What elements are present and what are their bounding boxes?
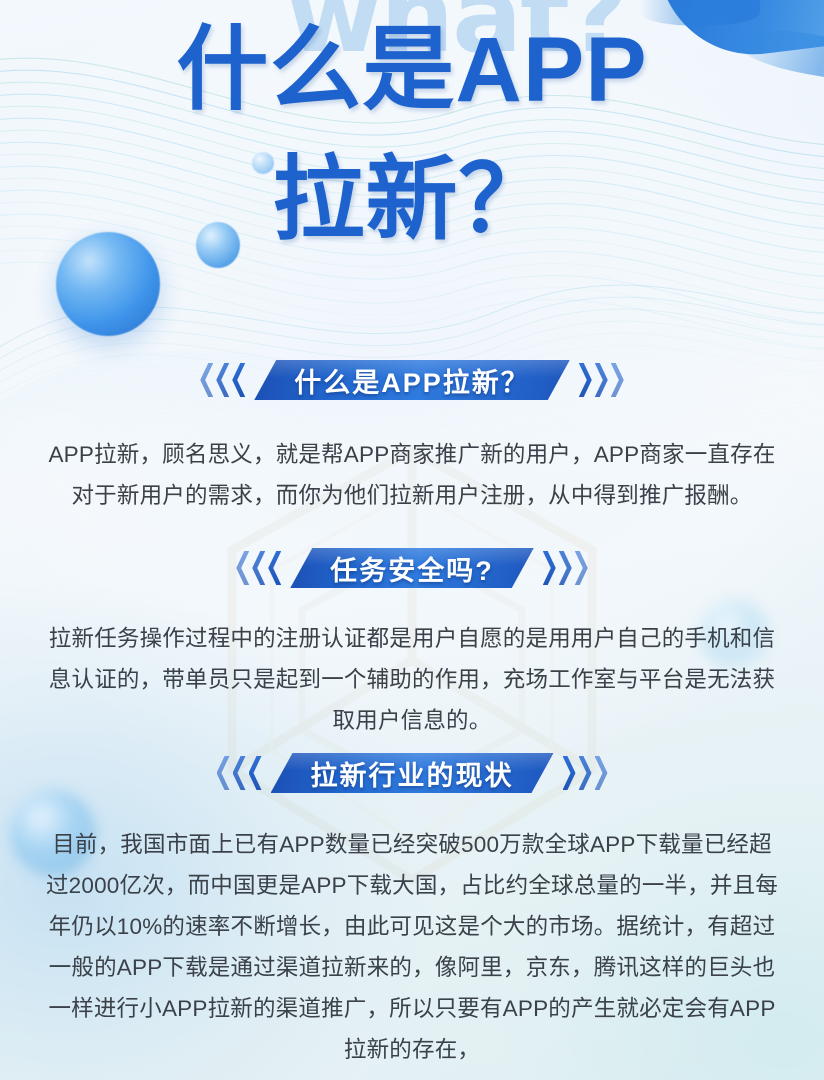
section-body-2: 拉新任务操作过程中的注册认证都是用户自愿的是用用户自己的手机和信息认证的，带单员… bbox=[40, 618, 784, 741]
section-is-task-safe: 任务安全吗? bbox=[0, 548, 824, 588]
chevron-left-icon bbox=[233, 756, 246, 790]
chevron-right-icon bbox=[595, 363, 608, 397]
chevron-left-icon bbox=[216, 363, 229, 397]
chevron-left-icon bbox=[268, 551, 281, 585]
poster-headline: 什么是APP 拉新？ bbox=[0, 18, 824, 252]
chevron-right-icon bbox=[543, 551, 556, 585]
chevron-right-icon bbox=[579, 363, 592, 397]
section-banner-label-1: 什么是APP拉新？ bbox=[294, 361, 530, 400]
chevron-right-group-3 bbox=[563, 756, 608, 790]
poster-canvas: what? 什么是APP 拉新？ 什么是APP拉新？ APP拉新，顾名思义，就是… bbox=[0, 0, 824, 1080]
chevron-right-icon bbox=[559, 551, 572, 585]
chevron-left-group-2 bbox=[236, 551, 281, 585]
section-body-text-2: 拉新任务操作过程中的注册认证都是用户自愿的是用用户自己的手机和信息认证的，带单员… bbox=[40, 618, 784, 741]
section-banner-row-3: 拉新行业的现状 bbox=[0, 753, 824, 793]
chevron-left-icon bbox=[236, 551, 249, 585]
chevron-left-icon bbox=[200, 363, 213, 397]
section-body-3: 目前，我国市面上已有APP数量已经突破500万款全球APP下载量已经超过2000… bbox=[42, 824, 782, 1070]
section-body-text-3: 目前，我国市面上已有APP数量已经突破500万款全球APP下载量已经超过2000… bbox=[42, 824, 782, 1070]
chevron-left-icon bbox=[217, 756, 230, 790]
chevron-left-group-1 bbox=[200, 363, 245, 397]
section-body-1: APP拉新，顾名思义，就是帮APP商家推广新的用户，APP商家一直存在对于新用户… bbox=[40, 434, 784, 516]
chevron-right-group-1 bbox=[579, 363, 624, 397]
section-industry-status: 拉新行业的现状 bbox=[0, 753, 824, 793]
chevron-right-icon bbox=[595, 756, 608, 790]
section-banner-label-2: 任务安全吗? bbox=[330, 549, 494, 588]
section-banner-3: 拉新行业的现状 bbox=[271, 753, 554, 793]
section-banner-2: 任务安全吗? bbox=[290, 548, 534, 588]
section-banner-label-3: 拉新行业的现状 bbox=[311, 754, 514, 793]
chevron-right-icon bbox=[563, 756, 576, 790]
headline-line-2: 拉新？ bbox=[0, 148, 824, 252]
section-banner-1: 什么是APP拉新？ bbox=[254, 360, 570, 400]
chevron-left-group-3 bbox=[217, 756, 262, 790]
headline-line-1: 什么是APP bbox=[0, 18, 824, 122]
chevron-right-icon bbox=[579, 756, 592, 790]
chevron-left-icon bbox=[249, 756, 262, 790]
section-what-is-app-laxin: 什么是APP拉新？ bbox=[0, 360, 824, 400]
chevron-left-icon bbox=[252, 551, 265, 585]
section-banner-row-2: 任务安全吗? bbox=[0, 548, 824, 588]
chevron-right-icon bbox=[575, 551, 588, 585]
section-body-text-1: APP拉新，顾名思义，就是帮APP商家推广新的用户，APP商家一直存在对于新用户… bbox=[40, 434, 784, 516]
chevron-right-icon bbox=[611, 363, 624, 397]
chevron-left-icon bbox=[232, 363, 245, 397]
chevron-right-group-2 bbox=[543, 551, 588, 585]
section-banner-row-1: 什么是APP拉新？ bbox=[0, 360, 824, 400]
